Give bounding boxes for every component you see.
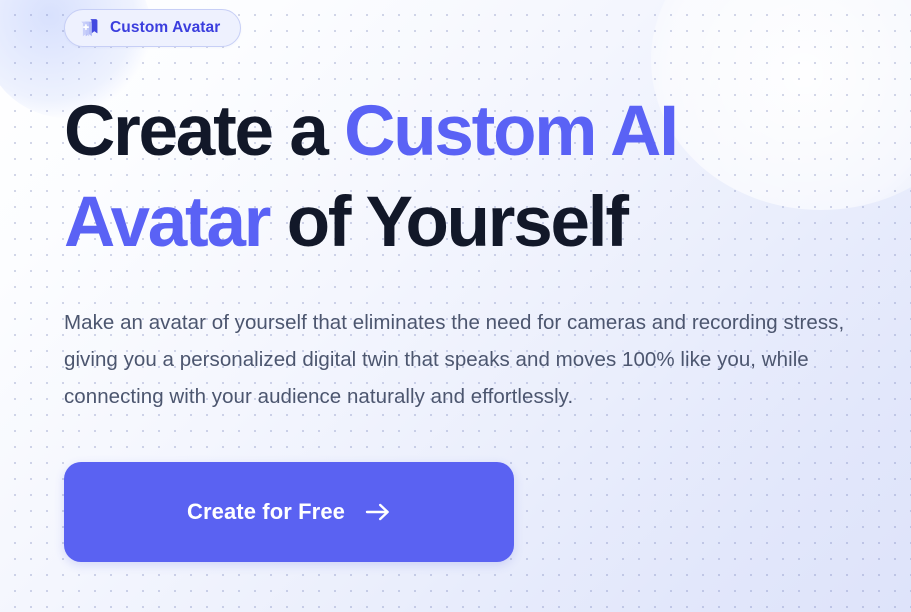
arrow-right-icon: [365, 501, 391, 523]
headline-accent-1: Custom AI: [344, 92, 677, 171]
custom-avatar-badge[interactable]: Custom Avatar: [64, 9, 241, 47]
headline-part-1: Create a: [64, 92, 344, 171]
badge-label: Custom Avatar: [110, 20, 220, 36]
badge-icon-wrap: [76, 16, 101, 41]
create-for-free-label: Create for Free: [187, 501, 345, 523]
hero-description: Make an avatar of yourself that eliminat…: [64, 304, 892, 415]
page-title: Create a Custom AI Avatar of Yourself: [64, 86, 874, 268]
hero-content: Custom Avatar Create a Custom AI Avatar …: [0, 0, 911, 562]
hero-section: Custom Avatar Create a Custom AI Avatar …: [0, 0, 911, 612]
headline-accent-2: Avatar: [64, 183, 269, 262]
create-for-free-button[interactable]: Create for Free: [64, 462, 514, 562]
custom-avatar-bookmark-plus-icon: [76, 16, 101, 41]
headline-part-2: of Yourself: [269, 183, 627, 262]
cta-row: Create for Free: [64, 462, 911, 562]
